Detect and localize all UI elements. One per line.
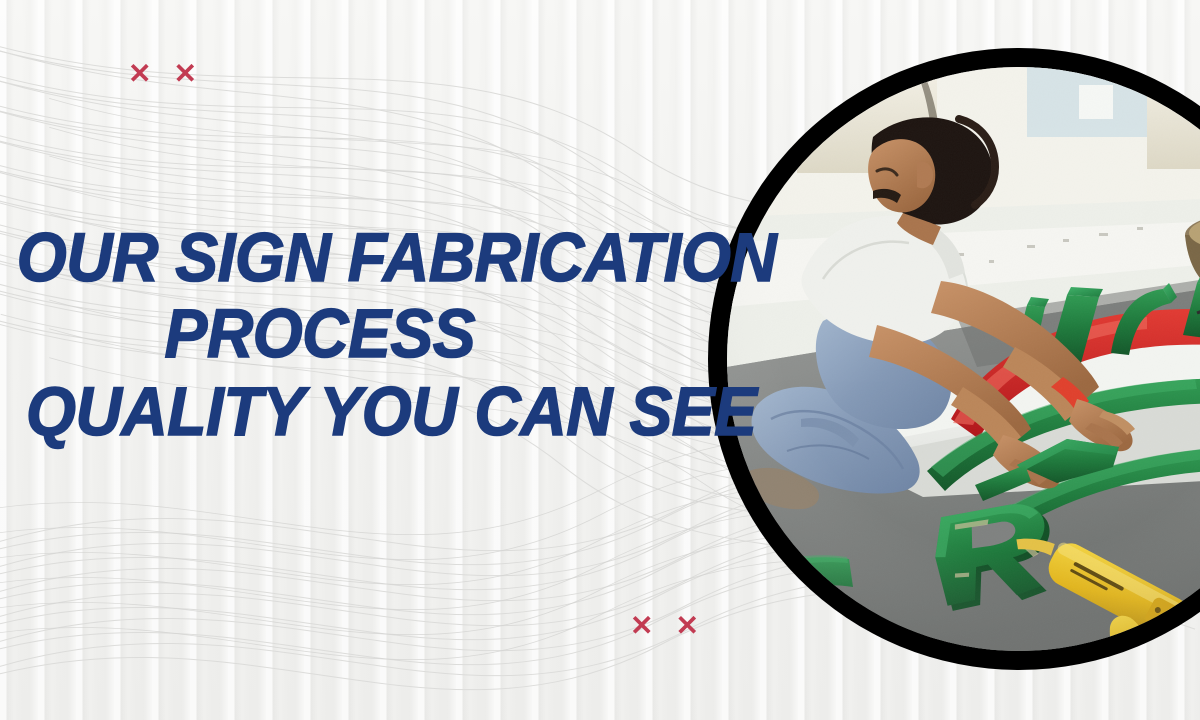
promo-banner: ✕ ✕ ✕ ✕ OUR SIGN FABRICATION PROCESS QUA… (0, 0, 1200, 720)
x-mark-icon: ✕ (173, 60, 196, 88)
photo-illustration (727, 67, 1200, 651)
photo-circle-frame (708, 48, 1200, 670)
headline-block: OUR SIGN FABRICATION PROCESS QUALITY YOU… (0, 222, 660, 447)
x-mark-icon: ✕ (675, 612, 698, 640)
headline-line-1: OUR SIGN FABRICATION (0, 222, 614, 294)
x-mark-icon: ✕ (128, 60, 151, 88)
decor-x-cluster-top: ✕ ✕ (128, 60, 197, 88)
x-mark-icon: ✕ (630, 612, 653, 640)
photo-image (727, 67, 1200, 651)
headline-line-2: PROCESS (23, 298, 637, 370)
headline-line-3: QUALITY YOU CAN SEE (0, 376, 614, 448)
decor-x-cluster-bottom: ✕ ✕ (630, 612, 699, 640)
